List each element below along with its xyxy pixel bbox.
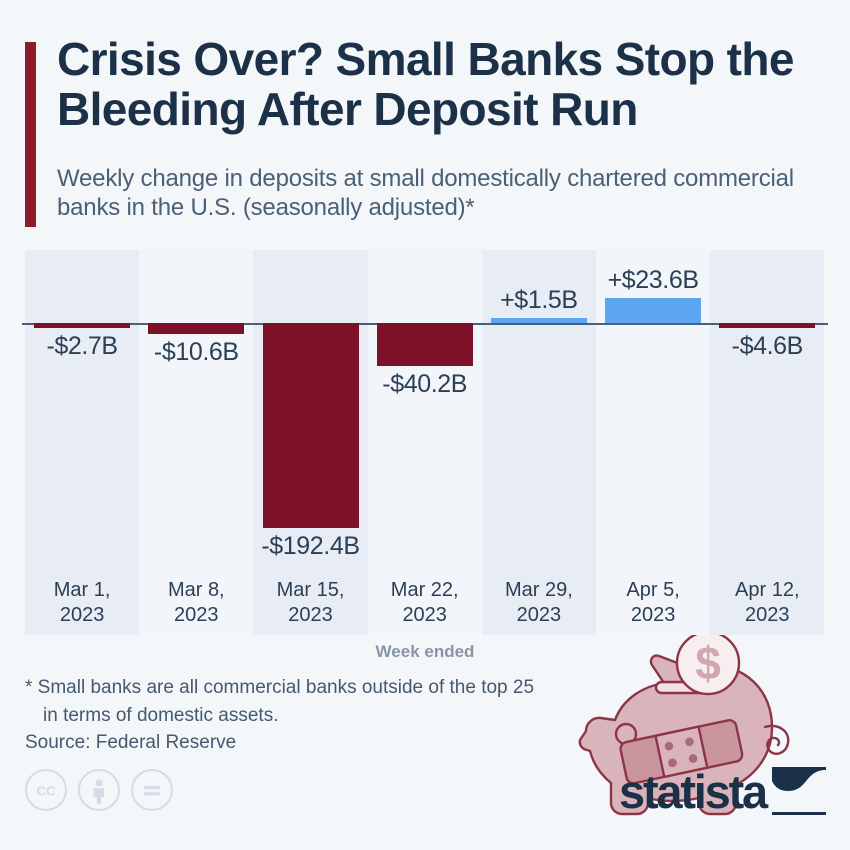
footnote-line-1: * Small banks are all commercial banks o…	[25, 677, 534, 698]
x-tick-label: Mar 29,2023	[482, 578, 596, 628]
bar-value-label: -$10.6B	[129, 338, 263, 367]
bar-3[interactable]	[263, 323, 359, 528]
source-text: Source: Federal Reserve	[25, 732, 236, 754]
x-axis-caption: Week ended	[0, 642, 850, 662]
x-axis: Mar 1,2023Mar 8,2023Mar 15,2023Mar 22,20…	[0, 578, 850, 640]
bar-value-label: -$192.4B	[243, 532, 377, 561]
x-tick-label: Mar 8,2023	[139, 578, 253, 628]
cc-icon[interactable]: CC	[25, 769, 67, 811]
header: Crisis Over? Small Banks Stop the Bleedi…	[0, 0, 850, 240]
page-subtitle: Weekly change in deposits at small domes…	[57, 164, 837, 222]
bar-value-label: -$40.2B	[358, 370, 492, 399]
x-tick-label: Mar 1,2023	[25, 578, 139, 628]
page-title: Crisis Over? Small Banks Stop the Bleedi…	[57, 34, 847, 134]
bar-value-label: -$4.6B	[700, 332, 834, 361]
bar-6[interactable]	[605, 298, 701, 323]
svg-text:CC: CC	[36, 783, 56, 798]
bar-4[interactable]	[377, 323, 473, 366]
x-tick-label: Mar 15,2023	[253, 578, 367, 628]
nd-equals-icon[interactable]	[131, 769, 173, 811]
x-tick-label: Mar 22,2023	[368, 578, 482, 628]
footer: CC statista	[0, 765, 850, 850]
bar-5[interactable]	[491, 318, 587, 323]
creative-commons-badges: CC	[25, 769, 173, 811]
statista-logo[interactable]: statista	[619, 767, 826, 815]
bar-7[interactable]	[719, 323, 815, 328]
footnote-line-2: in terms of domestic assets.	[25, 702, 725, 730]
bar-value-label: +$23.6B	[586, 266, 720, 295]
bar-2[interactable]	[148, 323, 244, 334]
infographic-root: Crisis Over? Small Banks Stop the Bleedi…	[0, 0, 850, 850]
x-tick-label: Apr 12,2023	[710, 578, 824, 628]
bar-1[interactable]	[34, 323, 130, 328]
x-tick-label: Apr 5,2023	[596, 578, 710, 628]
statista-wordmark: statista	[619, 768, 766, 815]
statista-mark	[772, 767, 826, 815]
by-person-icon[interactable]	[78, 769, 120, 811]
title-accent-bar	[25, 42, 36, 227]
footnote: * Small banks are all commercial banks o…	[25, 674, 725, 730]
